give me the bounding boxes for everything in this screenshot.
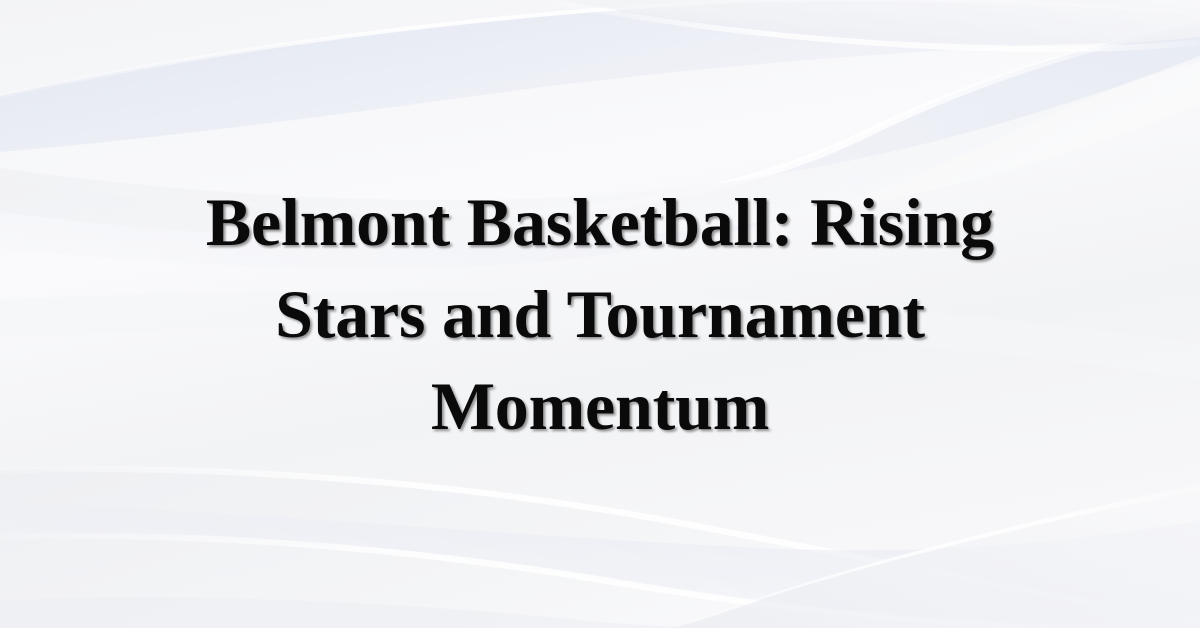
title-line-2: Stars and Tournament — [80, 268, 1120, 360]
title-line-3: Momentum — [80, 360, 1120, 452]
page-title: Belmont Basketball: Rising Stars and Tou… — [0, 0, 1200, 628]
share-card-banner: Belmont Basketball: Rising Stars and Tou… — [0, 0, 1200, 628]
title-line-1: Belmont Basketball: Rising — [80, 176, 1120, 268]
